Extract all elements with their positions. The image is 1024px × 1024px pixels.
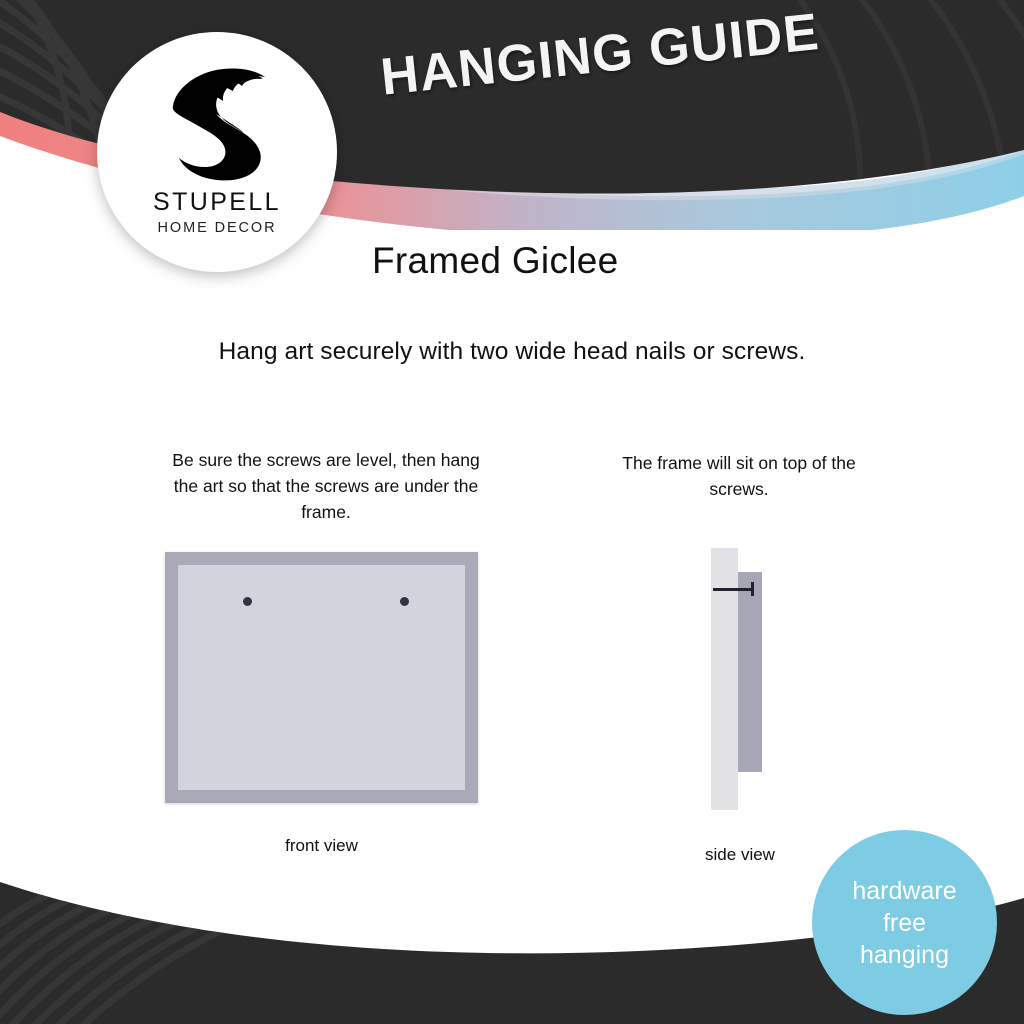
screw-dot-right-icon	[400, 597, 409, 606]
stupell-swoosh-icon	[165, 60, 269, 182]
screw-head-icon	[751, 582, 754, 596]
front-view-diagram	[165, 552, 478, 803]
badge-line-2: free	[883, 907, 926, 939]
front-view-mat	[178, 565, 465, 790]
badge-line-3: hanging	[860, 939, 949, 971]
product-name: Framed Giclee	[372, 240, 619, 282]
brand-logo-badge: STUPELL HOME DECOR	[97, 32, 337, 272]
side-view-label: side view	[665, 845, 815, 865]
side-view-caption: The frame will sit on top of the screws.	[594, 450, 884, 502]
screw-shaft-icon	[713, 588, 753, 591]
hanging-guide-page: HANGING GUIDE STUPELL HOME DECOR Framed …	[0, 0, 1024, 1024]
page-title: HANGING GUIDE	[378, 2, 822, 108]
badge-line-1: hardware	[852, 875, 956, 907]
logo-tagline: HOME DECOR	[158, 220, 277, 236]
side-view-frame-panel	[738, 572, 762, 772]
main-instruction-text: Hang art securely with two wide head nai…	[0, 338, 1024, 366]
hardware-free-badge: hardware free hanging	[812, 830, 997, 1015]
side-view-diagram	[705, 545, 775, 815]
front-view-label: front view	[165, 836, 478, 856]
front-view-caption: Be sure the screws are level, then hang …	[160, 447, 492, 525]
logo-wordmark: STUPELL	[153, 188, 281, 217]
screw-dot-left-icon	[243, 597, 252, 606]
